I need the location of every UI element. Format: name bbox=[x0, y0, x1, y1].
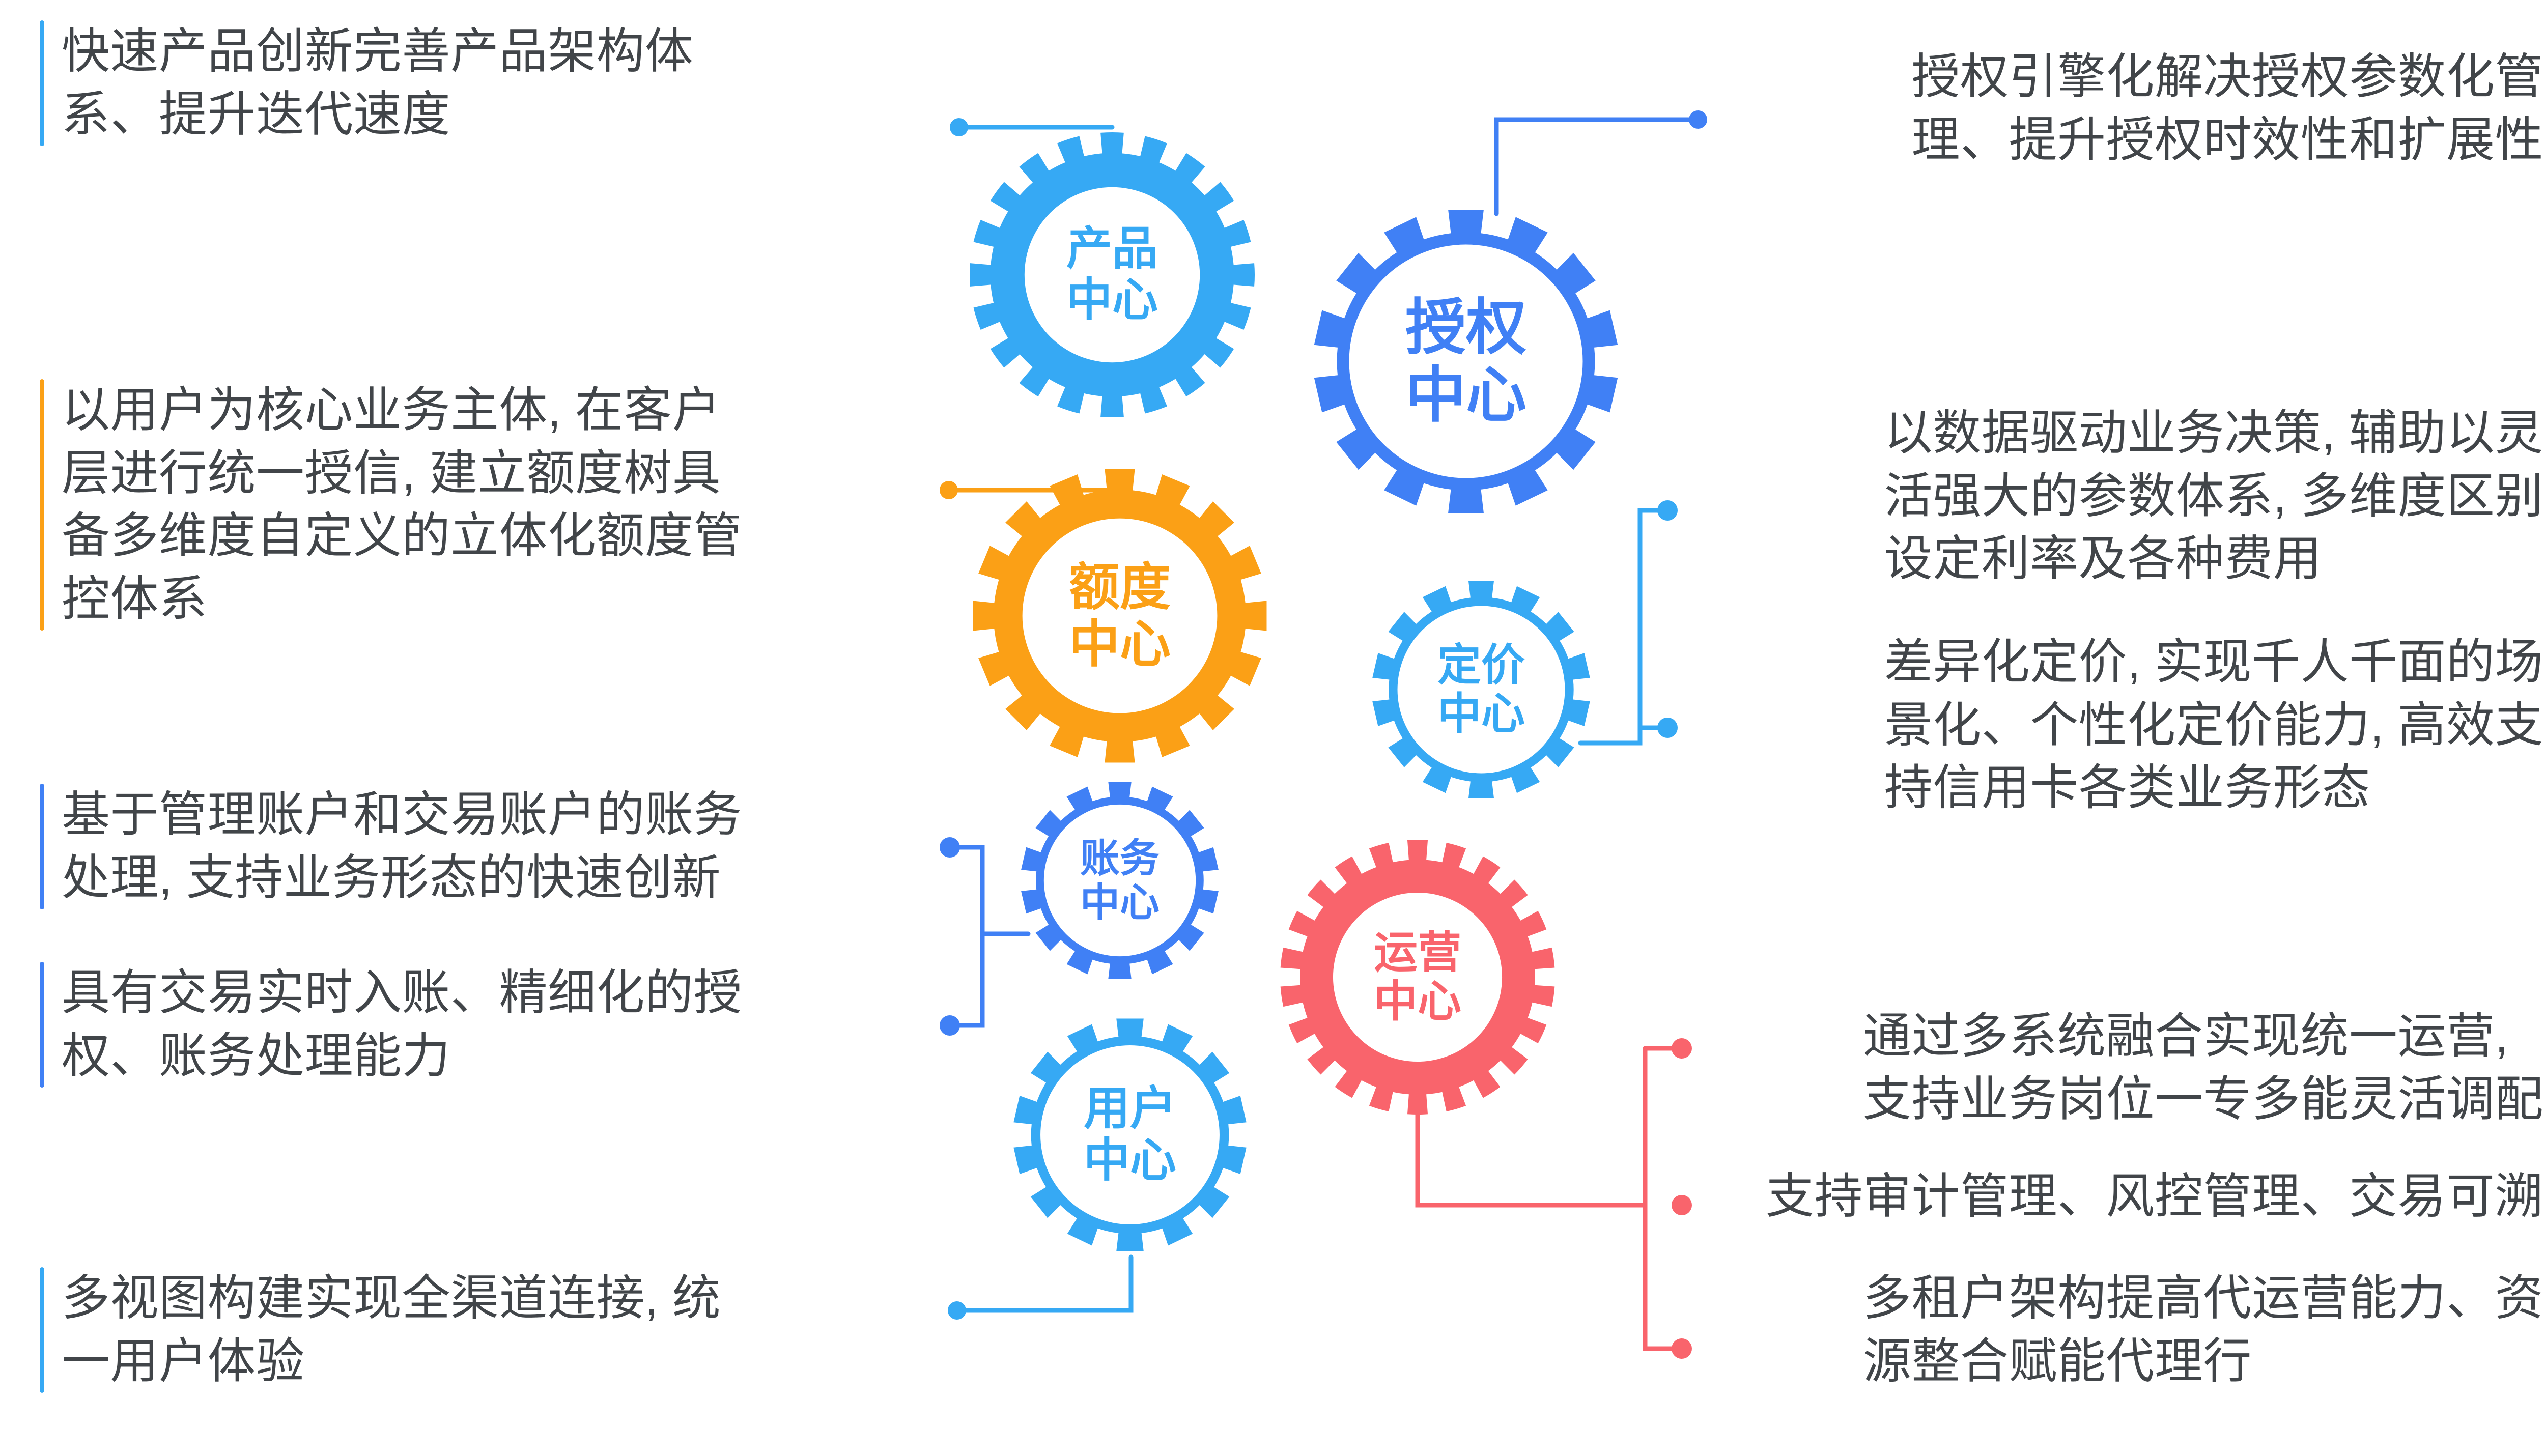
callout-accounting-note-1[interactable]: 基于管理账户和交易账户的账务 处理, 支持业务形态的快速创新 bbox=[40, 784, 925, 909]
gear-credit[interactable] bbox=[973, 469, 1267, 763]
callout-text: 以数据驱动业务决策, 辅助以灵 活强大的参数体系, 多维度区别 设定利率及各种费… bbox=[1884, 402, 2545, 591]
callout-operation-note-1[interactable]: 通过多系统融合实现统一运营, 支持业务岗位一专多能灵活调配 bbox=[1720, 1005, 2545, 1131]
accent-bar bbox=[40, 379, 44, 631]
gear-user[interactable] bbox=[1013, 1019, 1246, 1251]
diagram-canvas: 产品中心授权中心额度中心定价中心账务中心运营中心用户中心 快速产品创新完善产品架… bbox=[0, 0, 2545, 1456]
gear-hub bbox=[1025, 187, 1200, 362]
gear-hub bbox=[1333, 893, 1502, 1062]
callout-text: 基于管理账户和交易账户的账务 处理, 支持业务形态的快速创新 bbox=[44, 784, 742, 909]
callout-authorize-note[interactable]: 授权引擎化解决授权参数化管 理、提升授权时效性和扩展性 bbox=[1720, 46, 2545, 172]
callout-pricing-note-2[interactable]: 差异化定价, 实现千人千面的场 景化、个性化定价能力, 高效支 持信用卡各类业务… bbox=[1720, 631, 2545, 820]
gear-hub bbox=[1349, 245, 1583, 478]
callout-text: 支持审计管理、风控管理、交易可溯 bbox=[1766, 1165, 2545, 1229]
gear-hub bbox=[1040, 1045, 1220, 1224]
connector-product bbox=[950, 118, 1112, 136]
gear-hub bbox=[1023, 519, 1218, 713]
callout-credit-note[interactable]: 以用户为核心业务主体, 在客户 层进行统一授信, 建立额度树具 备多维度自定义的… bbox=[40, 379, 936, 631]
callout-operation-note-2[interactable]: 支持审计管理、风控管理、交易可溯 bbox=[1720, 1165, 2545, 1229]
callout-text: 多租户架构提高代运营能力、资 源整合赋能代理行 bbox=[1863, 1267, 2545, 1393]
connector-user bbox=[948, 1257, 1131, 1320]
accent-bar bbox=[40, 784, 44, 909]
callout-text: 通过多系统融合实现统一运营, 支持业务岗位一专多能灵活调配 bbox=[1863, 1005, 2545, 1131]
gear-hub bbox=[1398, 606, 1565, 774]
callout-product-note[interactable]: 快速产品创新完善产品架构体 系、提升迭代速度 bbox=[40, 20, 915, 146]
gear-accounting[interactable] bbox=[1021, 782, 1219, 979]
callout-operation-note-3[interactable]: 多租户架构提高代运营能力、资 源整合赋能代理行 bbox=[1720, 1267, 2545, 1393]
callout-text: 差异化定价, 实现千人千面的场 景化、个性化定价能力, 高效支 持信用卡各类业务… bbox=[1884, 631, 2545, 820]
gear-authorize[interactable] bbox=[1314, 210, 1618, 513]
callout-text: 快速产品创新完善产品架构体 系、提升迭代速度 bbox=[44, 20, 694, 146]
callout-pricing-note-1[interactable]: 以数据驱动业务决策, 辅助以灵 活强大的参数体系, 多维度区别 设定利率及各种费… bbox=[1720, 402, 2545, 591]
callout-text: 以用户为核心业务主体, 在客户 层进行统一授信, 建立额度树具 备多维度自定义的… bbox=[44, 379, 742, 631]
gear-hub bbox=[1044, 805, 1196, 956]
callout-accounting-note-2[interactable]: 具有交易实时入账、精细化的授 权、账务处理能力 bbox=[40, 962, 925, 1088]
callout-text: 具有交易实时入账、精细化的授 权、账务处理能力 bbox=[44, 962, 742, 1088]
gear-operation[interactable] bbox=[1281, 840, 1555, 1115]
connector-pricing bbox=[1580, 500, 1678, 743]
connector-accounting bbox=[940, 837, 1028, 1036]
accent-bar bbox=[40, 962, 44, 1088]
gear-pricing[interactable] bbox=[1372, 581, 1590, 798]
callout-user-note[interactable]: 多视图构建实现全渠道连接, 统 一用户体验 bbox=[40, 1267, 925, 1393]
gear-product[interactable] bbox=[970, 132, 1255, 417]
accent-bar bbox=[40, 1267, 44, 1393]
callout-text: 授权引擎化解决授权参数化管 理、提升授权时效性和扩展性 bbox=[1911, 46, 2545, 172]
connector-authorize bbox=[1496, 110, 1707, 214]
callout-text: 多视图构建实现全渠道连接, 统 一用户体验 bbox=[44, 1267, 721, 1393]
accent-bar bbox=[40, 20, 44, 146]
